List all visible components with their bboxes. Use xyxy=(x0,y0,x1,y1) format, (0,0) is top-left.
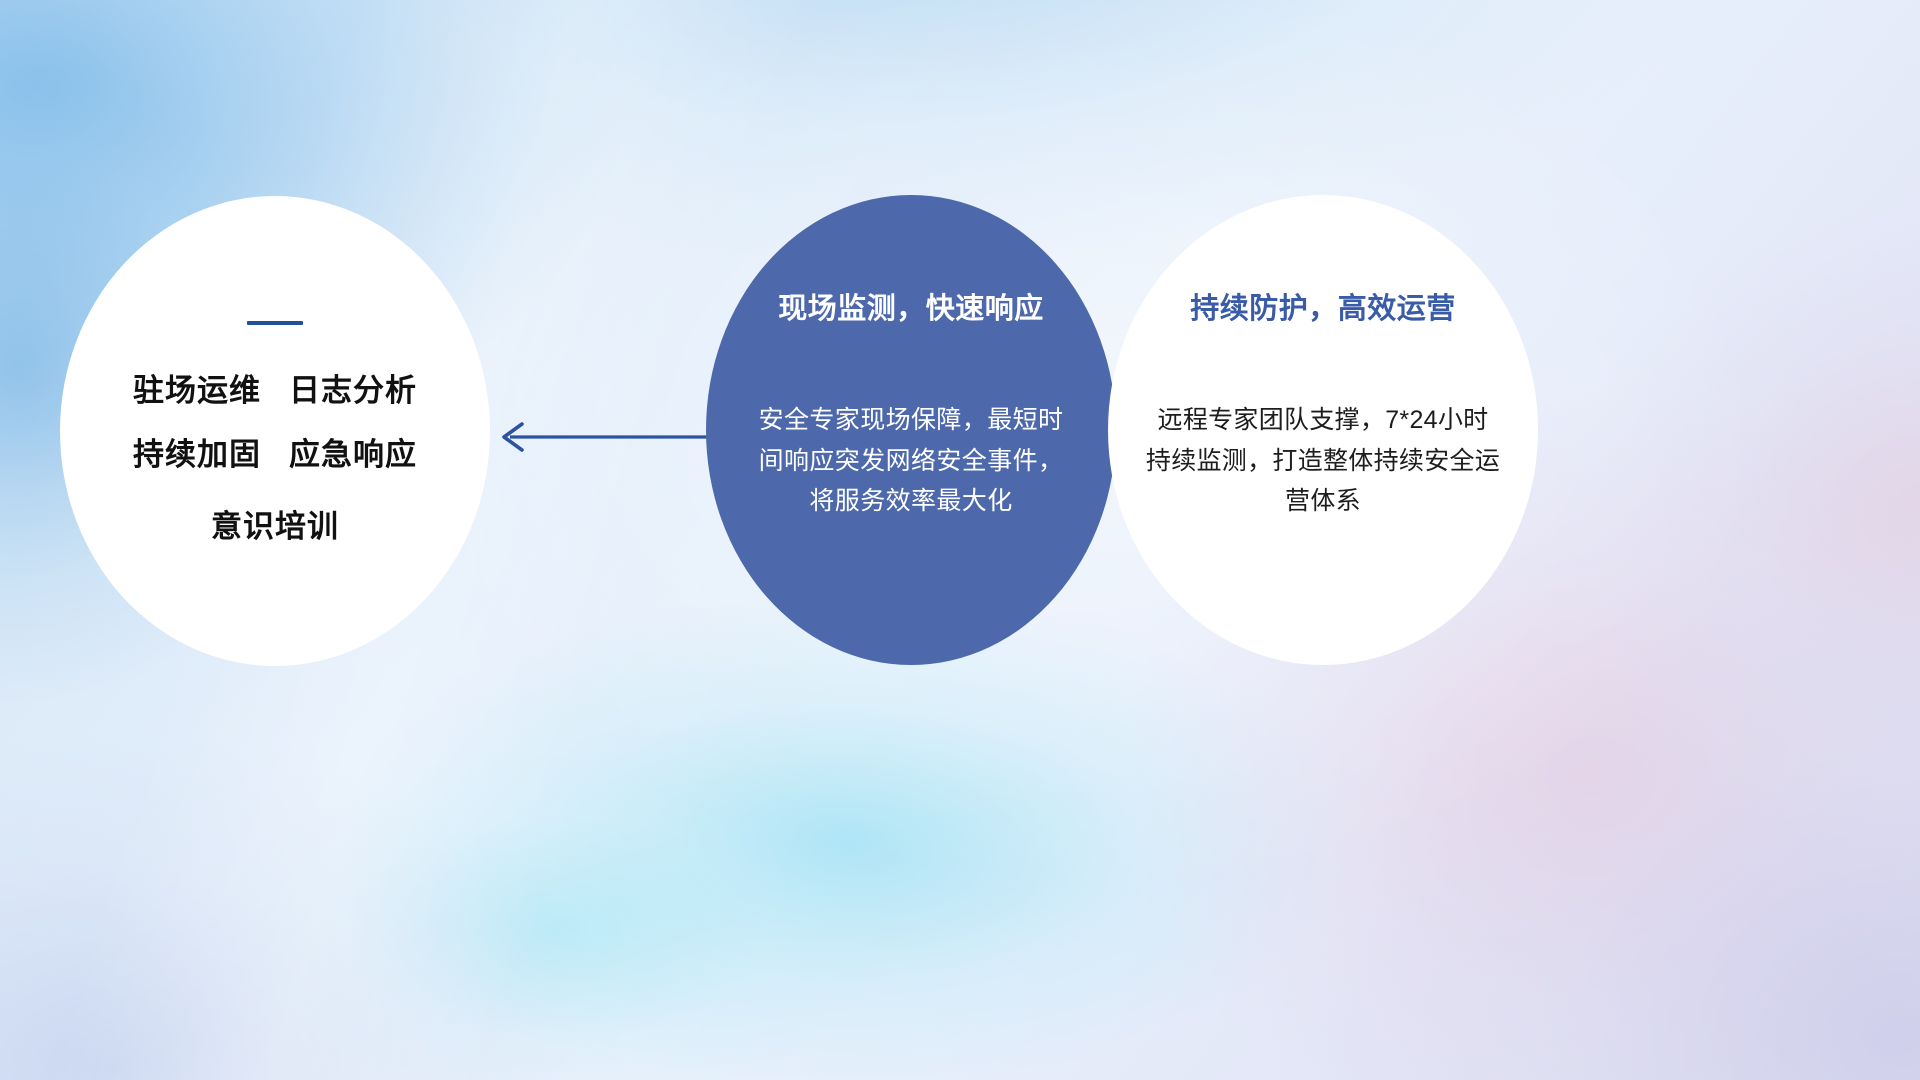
capability-label-continuous-hardening: 持续加固 xyxy=(133,437,261,472)
capability-label-log-analysis: 日志分析 xyxy=(289,373,417,408)
capability-label-awareness-training: 意识培训 xyxy=(211,511,339,542)
service-body-remote: 远程专家团队支撑，7*24小时持续监测，打造整体持续安全运营体系 xyxy=(1145,400,1501,522)
capability-circle-left[interactable]: 驻场运维日志分析 持续加固应急响应 意识培训 xyxy=(60,196,490,666)
service-body-onsite: 安全专家现场保障，最短时间响应突发网络安全事件，将服务效率最大化 xyxy=(751,400,1071,522)
service-title-remote: 持续防护，高效运营 xyxy=(1190,295,1456,324)
capability-row-2: 持续加固应急响应 xyxy=(133,439,417,470)
service-circle-onsite[interactable]: 现场监测，快速响应 安全专家现场保障，最短时间响应突发网络安全事件，将服务效率最… xyxy=(706,195,1116,665)
capability-label-onsite-ops: 驻场运维 xyxy=(133,373,261,408)
service-title-onsite: 现场监测，快速响应 xyxy=(778,295,1044,324)
capability-label-emergency-response: 应急响应 xyxy=(289,437,417,472)
capability-row-1: 驻场运维日志分析 xyxy=(133,375,417,406)
divider-dash xyxy=(247,321,303,325)
service-circle-remote[interactable]: 持续防护，高效运营 远程专家团队支撑，7*24小时持续监测，打造整体持续安全运营… xyxy=(1108,195,1538,665)
slide-canvas: 驻场运维日志分析 持续加固应急响应 意识培训 现场监测，快速响应 安全专家现场保… xyxy=(0,0,1920,1080)
flow-arrow-icon xyxy=(488,414,728,460)
